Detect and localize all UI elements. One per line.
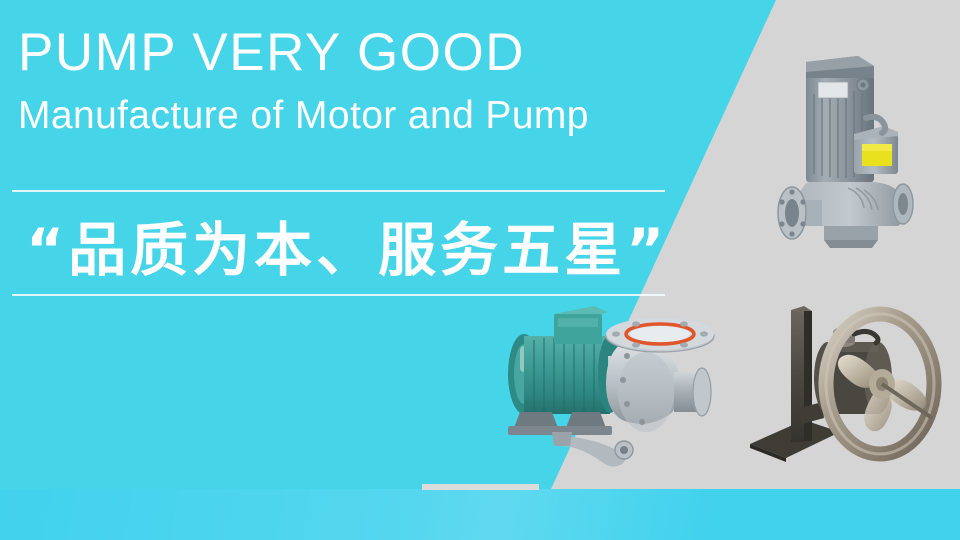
end-suction-pump-icon: [496, 300, 736, 475]
submersible-mixer-icon: [742, 292, 947, 474]
product-image-vertical-inline-pump: [762, 52, 952, 257]
page-subtitle: Manufacture of Motor and Pump: [18, 90, 698, 142]
promo-banner: PUMP VERY GOOD Manufacture of Motor and …: [0, 0, 960, 540]
divider-bottom: [12, 294, 665, 296]
slogan-text: “品质为本、服务五星”: [26, 200, 686, 290]
vertical-inline-pump-icon: [762, 52, 952, 257]
page-title: PUMP VERY GOOD: [18, 22, 698, 84]
product-image-end-suction-pump: [496, 300, 736, 475]
headline-block: PUMP VERY GOOD Manufacture of Motor and …: [18, 22, 698, 142]
divider-top: [12, 190, 665, 192]
product-image-submersible-mixer: [742, 292, 947, 474]
band-tab-notch: [422, 484, 539, 490]
bottom-band-sheen: [0, 489, 960, 540]
